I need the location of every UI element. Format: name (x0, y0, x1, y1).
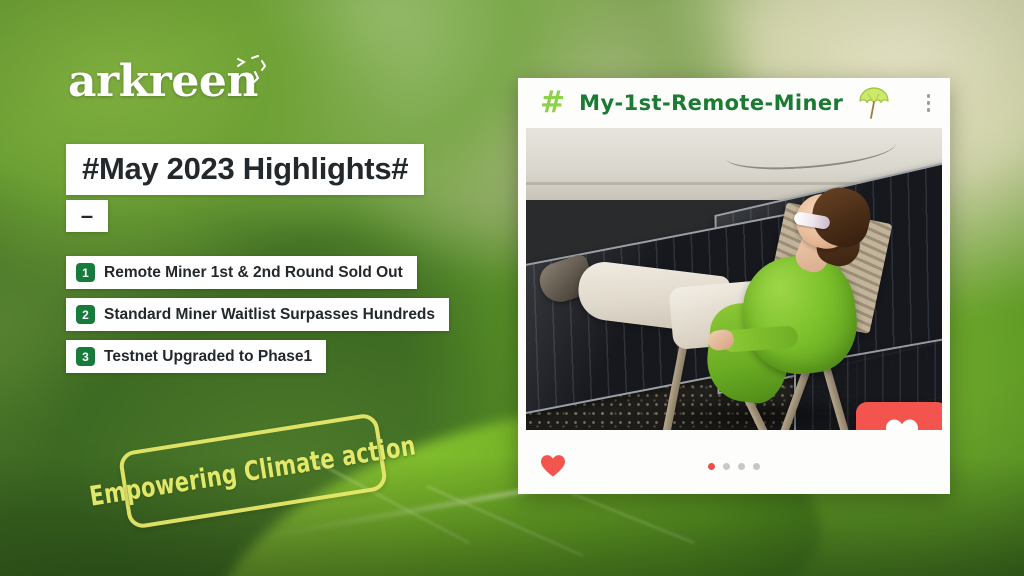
arkreen-logo: arkreen (68, 60, 258, 104)
sparkle-icon (232, 52, 278, 92)
heart-filled-icon[interactable] (540, 454, 566, 478)
divider-mark: – (81, 212, 93, 221)
carousel-indicator (708, 463, 760, 470)
divider-mark-box: – (66, 200, 108, 232)
menu-dot (927, 101, 931, 105)
more-vertical-icon[interactable] (921, 90, 937, 116)
carousel-dot[interactable] (738, 463, 745, 470)
hashtag-icon: # (540, 88, 565, 118)
post-title: My-1st-Remote-Miner (579, 91, 843, 115)
list-item-number: 1 (76, 263, 95, 282)
list-item-number: 3 (76, 347, 95, 366)
beach-umbrella-icon (857, 86, 891, 120)
list-item: 1 Remote Miner 1st & 2nd Round Sold Out (66, 256, 417, 289)
list-item-label: Standard Miner Waitlist Surpasses Hundre… (104, 306, 435, 324)
tagline-text: Empowering Climate action (88, 430, 418, 512)
post-footer (518, 438, 950, 494)
menu-dot (927, 94, 931, 98)
carousel-dot[interactable] (723, 463, 730, 470)
post-header: # My-1st-Remote-Miner (518, 78, 950, 128)
page-title: #May 2023 Highlights# (66, 144, 424, 195)
left-content-column: arkreen #May 2023 Highlights# – 1 Remote… (0, 0, 520, 576)
carousel-dot[interactable] (708, 463, 715, 470)
like-bubble[interactable] (856, 402, 942, 430)
menu-dot (927, 108, 931, 112)
list-item: 2 Standard Miner Waitlist Surpasses Hund… (66, 298, 449, 331)
highlights-list: 1 Remote Miner 1st & 2nd Round Sold Out … (66, 256, 449, 382)
heart-filled-icon (885, 418, 919, 430)
list-item-label: Remote Miner 1st & 2nd Round Sold Out (104, 264, 403, 282)
list-item-number: 2 (76, 305, 95, 324)
list-item: 3 Testnet Upgraded to Phase1 (66, 340, 326, 373)
post-photo[interactable] (526, 128, 942, 430)
carousel-dot[interactable] (753, 463, 760, 470)
list-item-label: Testnet Upgraded to Phase1 (104, 348, 312, 366)
tagline-stamp: Empowering Climate action (118, 412, 389, 530)
logo-text: arkreen (68, 56, 258, 107)
social-post-card: # My-1st-Remote-Miner (518, 78, 950, 494)
page-title-text: #May 2023 Highlights# (82, 151, 408, 186)
